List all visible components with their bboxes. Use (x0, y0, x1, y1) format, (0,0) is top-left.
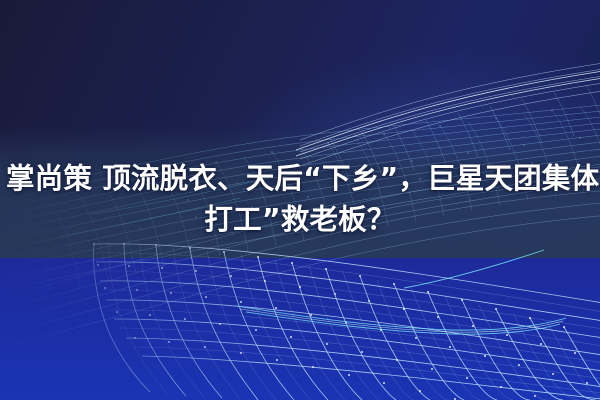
headline-line-2: 打工”救老板？ (6, 199, 594, 240)
page-title: 掌尚策 顶流脱衣、天后“下乡”，巨星天团集体“ 打工”救老板？ (0, 158, 600, 240)
news-banner-image: 掌尚策 顶流脱衣、天后“下乡”，巨星天团集体“ 打工”救老板？ (0, 0, 600, 400)
headline-line-1: 掌尚策 顶流脱衣、天后“下乡”，巨星天团集体“ (6, 158, 594, 199)
